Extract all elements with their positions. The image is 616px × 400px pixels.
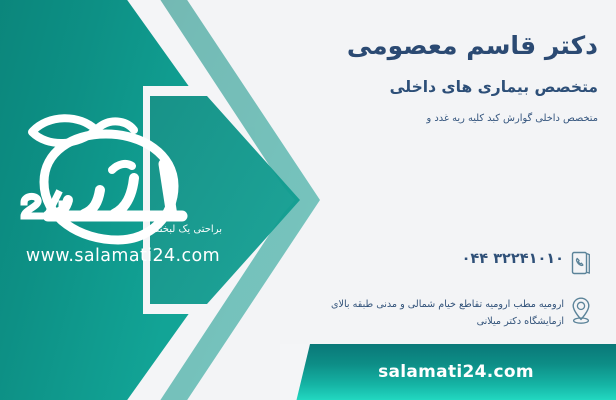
footer-website: salamati24.com — [378, 362, 534, 382]
contact-block: ۳۲۲۴۱۰۱۰ ۰۴۴ ارومیه مطب ارومیه تقاطع خیا… — [218, 244, 598, 341]
phone-row[interactable]: ۳۲۲۴۱۰۱۰ ۰۴۴ — [218, 244, 598, 282]
brand-logo[interactable]: براحتی یک لبخند www.salamati24.com — [14, 104, 228, 274]
doctor-info-block: دکتر قاسم معصومی متخصص بیماری های داخلی … — [228, 30, 598, 124]
address-text: ارومیه مطب ارومیه تقاطع خیام شمالی و مدن… — [218, 292, 564, 331]
address-line-1: ارومیه مطب ارومیه تقاطع خیام شمالی و مدن… — [218, 297, 564, 314]
doctor-subspecialty: متخصص داخلی گوارش کبد کلیه ریه غدد و — [228, 113, 598, 124]
doctor-business-card: براحتی یک لبخند www.salamati24.com دکتر … — [0, 0, 616, 400]
phonebook-icon — [564, 244, 598, 282]
address-row[interactable]: ارومیه مطب ارومیه تقاطع خیام شمالی و مدن… — [218, 292, 598, 331]
footer-bar-notch — [280, 344, 310, 400]
address-line-2: ازمایشگاه دکتر میلانی — [218, 314, 564, 331]
footer-bar[interactable]: salamati24.com — [296, 344, 616, 400]
doctor-specialty: متخصص بیماری های داخلی — [228, 78, 598, 96]
doctor-name: دکتر قاسم معصومی — [228, 30, 598, 61]
brand-tagline: براحتی یک لبخند — [155, 224, 223, 235]
location-pin-icon — [564, 292, 598, 330]
brand-logo-website: www.salamati24.com — [20, 246, 226, 266]
phone-number: ۳۲۲۴۱۰۱۰ ۰۴۴ — [218, 244, 564, 267]
